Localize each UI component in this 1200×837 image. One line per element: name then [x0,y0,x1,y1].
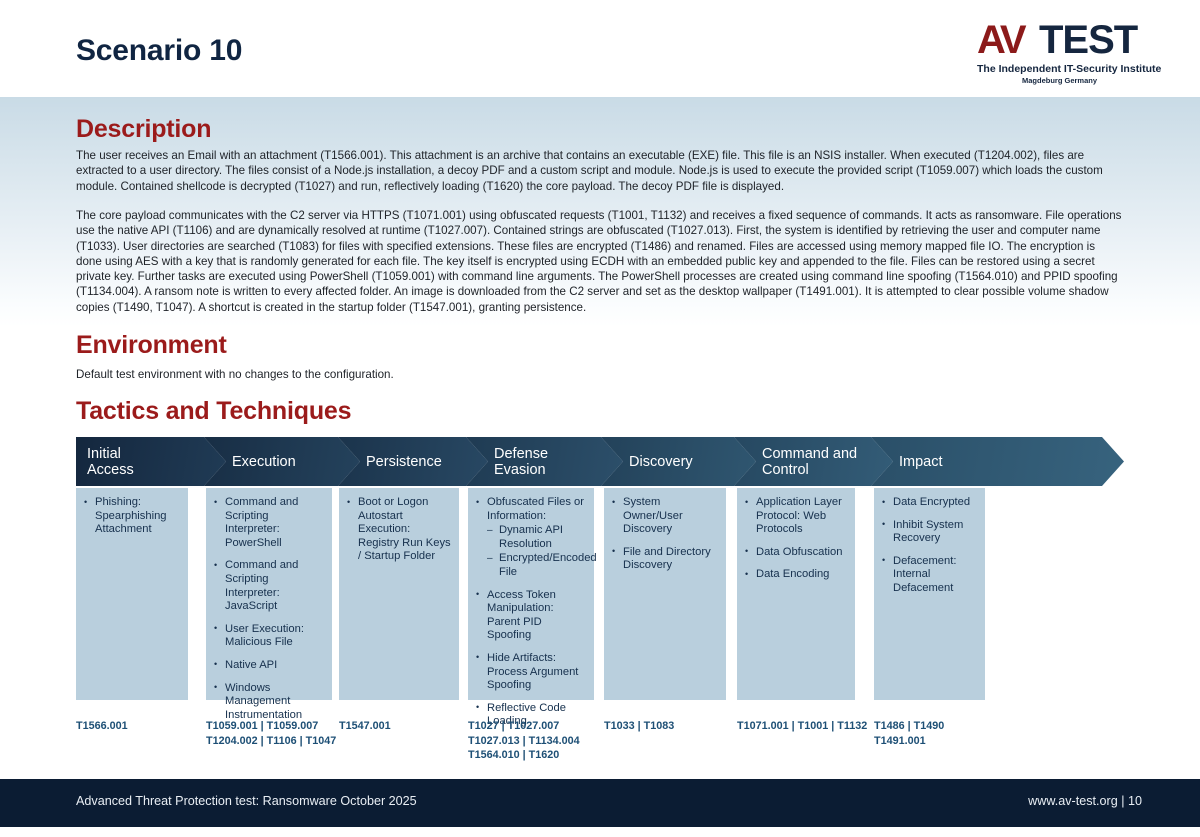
sub-technique-item: Encrypted/Encoded File [487,552,586,579]
technique-item: Inhibit System Recovery [882,519,977,546]
tactic-cell-initial-access: Phishing: Spearphishing Attachment [76,488,188,700]
environment-text: Default test environment with no changes… [76,367,1124,382]
technique-list: System Owner/User DiscoveryFile and Dire… [612,496,718,573]
logo-av-text: AV [977,20,1024,60]
technique-item: Obfuscated Files or Information:Dynamic … [476,496,586,580]
page-footer: Advanced Threat Protection test: Ransomw… [0,779,1200,827]
technique-list: Boot or Logon Autostart Execution: Regis… [347,496,451,564]
tactics-header-row: Initial AccessExecutionPersistenceDefens… [76,437,1124,486]
description-heading: Description [76,115,211,144]
technique-list: Command and Scripting Interpreter: Power… [214,496,324,722]
page-header: Scenario 10 AV TEST The Independent IT-S… [0,0,1200,97]
footer-test-name: Advanced Threat Protection test: Ransomw… [76,794,417,808]
footer-site-and-page: www.av-test.org | 10 [1028,794,1142,808]
tactic-cell-discovery: System Owner/User DiscoveryFile and Dire… [604,488,726,700]
tactic-cell-defense-evasion: Obfuscated Files or Information:Dynamic … [468,488,594,700]
av-test-logo: AV TEST The Independent IT-Security Inst… [977,20,1142,86]
technique-item: Hide Artifacts: Process Argument Spoofin… [476,652,586,693]
tactic-header-label: Initial Access [76,446,134,478]
tactic-header-execution[interactable]: Execution [204,437,360,486]
tactic-header-discovery[interactable]: Discovery [601,437,756,486]
technique-item: Boot or Logon Autostart Execution: Regis… [347,496,451,564]
footer-bottom-strip [0,827,1200,837]
technique-item: Data Obfuscation [745,546,847,560]
technique-item: File and Directory Discovery [612,546,718,573]
technique-ids-impact: T1486 | T1490 T1491.001 [874,719,1015,748]
technique-ids-defense-evasion: T1027 | T1027.007 T1027.013 | T1134.004 … [468,719,624,763]
technique-list: Phishing: Spearphishing Attachment [84,496,180,537]
description-paragraph-2: The core payload communicates with the C… [76,208,1124,315]
technique-item: User Execution: Malicious File [214,623,324,650]
tactic-header-initial-access[interactable]: Initial Access [76,437,226,486]
page-title: Scenario 10 [76,34,242,68]
technique-item: Phishing: Spearphishing Attachment [84,496,180,537]
technique-item: Data Encrypted [882,496,977,510]
tactic-cell-persistence: Boot or Logon Autostart Execution: Regis… [339,488,459,700]
tactic-cell-execution: Command and Scripting Interpreter: Power… [206,488,332,700]
logo-test-text: TEST [1039,20,1137,60]
tactics-matrix: Initial AccessExecutionPersistenceDefens… [76,437,1124,762]
technique-item: System Owner/User Discovery [612,496,718,537]
technique-item: Access Token Manipulation: Parent PID Sp… [476,589,586,643]
technique-ids-initial-access: T1566.001 [76,719,218,734]
tactic-header-command-and-control[interactable]: Command and Control [734,437,893,486]
logo-tagline: The Independent IT-Security Institute [977,63,1142,75]
tactic-cell-command-and-control: Application Layer Protocol: Web Protocol… [737,488,855,700]
technique-item: Windows Management Instrumentation [214,682,324,723]
tactic-cell-impact: Data EncryptedInhibit System RecoveryDef… [874,488,985,700]
technique-list: Application Layer Protocol: Web Protocol… [745,496,847,582]
technique-list: Obfuscated Files or Information:Dynamic … [476,496,586,729]
technique-item: Command and Scripting Interpreter: Power… [214,496,324,550]
technique-item: Defacement: Internal Defacement [882,555,977,596]
technique-ids-persistence: T1547.001 [339,719,489,734]
technique-ids-discovery: T1033 | T1083 [604,719,756,734]
tactics-heading: Tactics and Techniques [76,397,351,426]
technique-item: Application Layer Protocol: Web Protocol… [745,496,847,537]
technique-item: Native API [214,659,324,673]
description-paragraph-1: The user receives an Email with an attac… [76,148,1124,194]
logo-wordmark: AV TEST [977,20,1142,60]
technique-item: Command and Scripting Interpreter: JavaS… [214,559,324,613]
technique-list: Data EncryptedInhibit System RecoveryDef… [882,496,977,596]
technique-item: Data Encoding [745,568,847,582]
tactic-header-defense-evasion[interactable]: Defense Evasion [466,437,623,486]
tactic-header-persistence[interactable]: Persistence [338,437,488,486]
logo-location: Magdeburg Germany [977,76,1142,85]
technique-ids-command-and-control: T1071.001 | T1001 | T1132 [737,719,885,734]
sub-technique-list: Dynamic API ResolutionEncrypted/Encoded … [487,524,586,579]
sub-technique-item: Dynamic API Resolution [487,524,586,551]
environment-heading: Environment [76,331,227,360]
tactic-header-impact[interactable]: Impact [871,437,1124,486]
